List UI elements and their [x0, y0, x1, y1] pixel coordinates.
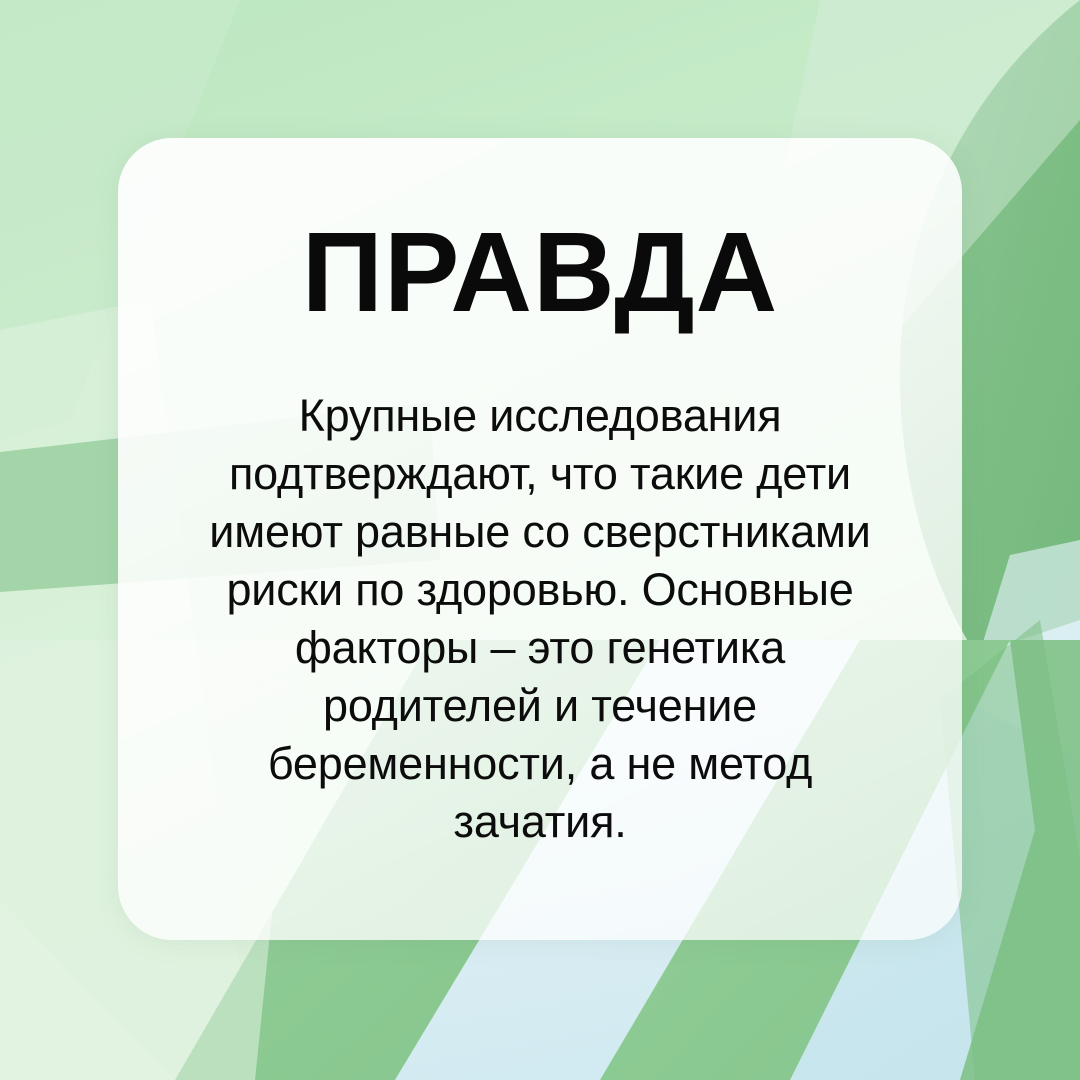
body-line: факторы – это генетика — [152, 619, 928, 677]
body-line: Крупные исследования — [152, 387, 928, 445]
body-line: зачатия. — [152, 793, 928, 851]
card-body-text: Крупные исследования подтверждают, что т… — [152, 387, 928, 851]
body-line: родителей и течение — [152, 677, 928, 735]
body-line: имеют равные со сверстниками — [152, 503, 928, 561]
slide-canvas: ПРАВДА Крупные исследования подтверждают… — [0, 0, 1080, 1080]
body-line: беременности, а не метод — [152, 735, 928, 793]
body-line: подтверждают, что такие дети — [152, 445, 928, 503]
body-line: риски по здоровью. Основные — [152, 561, 928, 619]
content-card: ПРАВДА Крупные исследования подтверждают… — [118, 138, 962, 940]
card-title: ПРАВДА — [152, 216, 928, 329]
